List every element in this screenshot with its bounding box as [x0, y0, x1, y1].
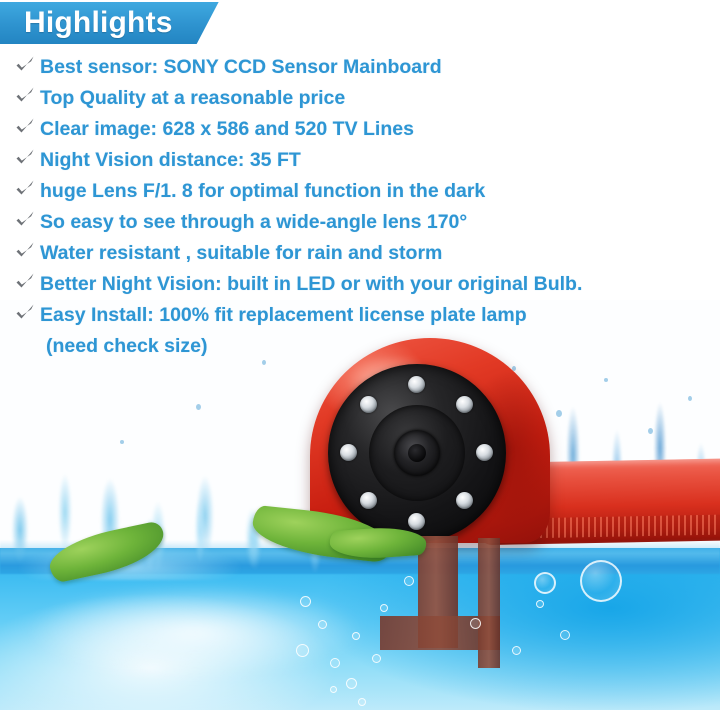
air-bubble	[330, 686, 337, 693]
feature-text: Night Vision distance: 35 FT	[40, 145, 301, 176]
list-item: huge Lens F/1. 8 for optimal function in…	[14, 176, 714, 207]
ir-led	[476, 444, 493, 461]
air-bubble	[470, 618, 481, 629]
ir-led	[408, 513, 425, 530]
air-bubble	[300, 596, 311, 607]
list-item: Easy Install: 100% fit replacement licen…	[14, 300, 714, 331]
lens-barrel	[369, 405, 465, 501]
feature-text: (need check size)	[40, 331, 207, 362]
water-droplet	[196, 404, 201, 410]
large-air-bubble	[580, 560, 622, 602]
list-item: Top Quality at a reasonable price	[14, 83, 714, 114]
feature-text: Clear image: 628 x 586 and 520 TV Lines	[40, 114, 414, 145]
air-bubble	[512, 646, 521, 655]
list-item-continuation: (need check size)	[14, 331, 714, 362]
check-icon	[14, 86, 40, 106]
list-item: Water resistant , suitable for rain and …	[14, 238, 714, 269]
air-bubble	[352, 632, 360, 640]
list-item: So easy to see through a wide-angle lens…	[14, 207, 714, 238]
air-bubble	[372, 654, 381, 663]
feature-text: Easy Install: 100% fit replacement licen…	[40, 300, 527, 331]
air-bubble	[358, 698, 366, 706]
mounting-bracket-post	[478, 538, 500, 668]
air-bubble	[380, 604, 388, 612]
feature-text: So easy to see through a wide-angle lens…	[40, 207, 467, 238]
check-icon	[14, 272, 40, 292]
check-icon	[14, 148, 40, 168]
air-bubble	[296, 644, 309, 657]
air-bubble	[318, 620, 327, 629]
air-bubble	[404, 576, 414, 586]
check-icon	[14, 303, 40, 323]
camera-lens	[394, 430, 440, 476]
feature-text: Top Quality at a reasonable price	[40, 83, 345, 114]
list-item: Better Night Vision: built in LED or wit…	[14, 269, 714, 300]
check-icon	[14, 55, 40, 75]
feature-list: Best sensor: SONY CCD Sensor Mainboard T…	[14, 52, 714, 362]
check-icon	[14, 241, 40, 261]
ir-led	[456, 396, 473, 413]
ir-led	[340, 444, 357, 461]
air-bubble	[536, 600, 544, 608]
feature-text: huge Lens F/1. 8 for optimal function in…	[40, 176, 485, 207]
large-air-bubble	[534, 572, 556, 594]
ir-led	[360, 396, 377, 413]
air-bubble	[346, 678, 357, 689]
feature-text: Best sensor: SONY CCD Sensor Mainboard	[40, 52, 442, 83]
water-droplet	[120, 440, 124, 444]
ir-led	[360, 492, 377, 509]
feature-text: Water resistant , suitable for rain and …	[40, 238, 442, 269]
check-icon	[14, 117, 40, 137]
list-item: Best sensor: SONY CCD Sensor Mainboard	[14, 52, 714, 83]
product-highlights-image: NAVINIO TECHNOLOGY LTD Highlights Best s…	[0, 0, 720, 710]
highlights-banner: Highlights	[0, 2, 219, 44]
air-bubble	[330, 658, 340, 668]
list-item: Clear image: 628 x 586 and 520 TV Lines	[14, 114, 714, 145]
check-icon	[14, 210, 40, 230]
camera-face	[328, 364, 506, 542]
ir-led	[456, 492, 473, 509]
banner-shape: Highlights	[0, 2, 219, 44]
air-bubble	[560, 630, 570, 640]
feature-text: Better Night Vision: built in LED or wit…	[40, 269, 582, 300]
list-item: Night Vision distance: 35 FT	[14, 145, 714, 176]
ir-led	[408, 376, 425, 393]
page-title: Highlights	[24, 8, 173, 38]
check-icon	[14, 179, 40, 199]
